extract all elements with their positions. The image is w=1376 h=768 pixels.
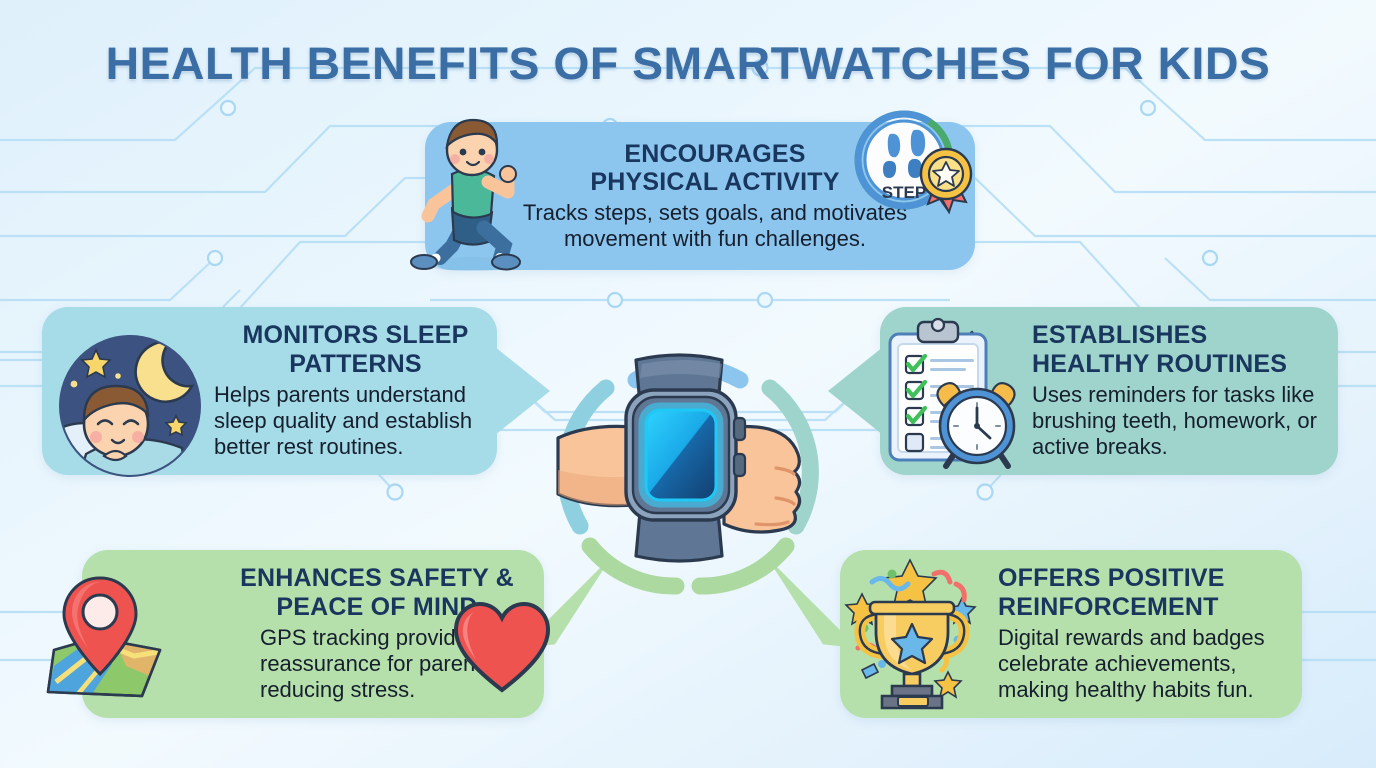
step-badge-icon: STEP: [848, 108, 976, 220]
card-text-reinforce: OFFERS POSITIVE REINFORCEMENT Digital re…: [998, 564, 1290, 703]
checklist-clipboard-icon: [880, 312, 1028, 470]
trophy-icon: [836, 552, 986, 712]
smartwatch-on-wrist-illustration: [508, 300, 868, 640]
card-description-routines: Uses reminders for tasks like brushing t…: [1032, 382, 1332, 461]
card-text-sleep: MONITORS SLEEP PATTERNS Helps parents un…: [214, 321, 497, 460]
map-pin-icon: [38, 572, 176, 702]
card-title-routines: ESTABLISHES HEALTHY ROUTINES: [1032, 321, 1332, 378]
card-title-sleep: MONITORS SLEEP PATTERNS: [214, 321, 497, 378]
page-title: HEALTH BENEFITS OF SMARTWATCHES FOR KIDS: [0, 38, 1376, 90]
heart-icon: [452, 600, 552, 695]
infographic-canvas: HEALTH BENEFITS OF SMARTWATCHES FOR KIDS…: [0, 0, 1376, 768]
sleeping-child-icon: [52, 332, 212, 484]
card-text-routines: ESTABLISHES HEALTHY ROUTINES Uses remind…: [1032, 321, 1332, 460]
card-description-reinforce: Digital rewards and badges celebrate ach…: [998, 625, 1290, 704]
card-description-sleep: Helps parents understand sleep quality a…: [214, 382, 497, 461]
card-title-reinforce: OFFERS POSITIVE REINFORCEMENT: [998, 564, 1290, 621]
running-child-icon: [400, 112, 540, 272]
step-badge-label: STEP: [882, 183, 926, 202]
